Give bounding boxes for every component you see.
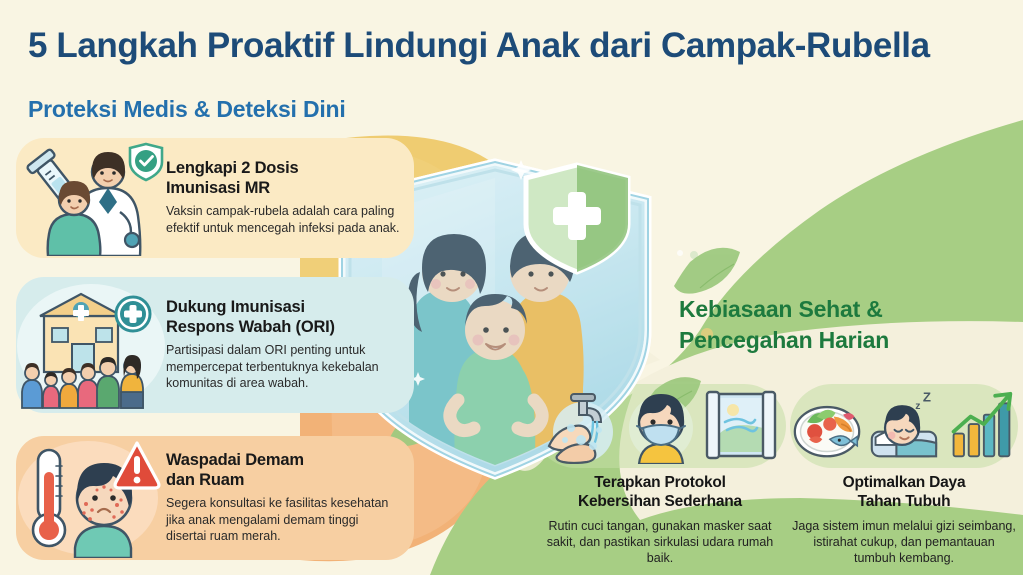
hygiene-card-heading-line2: Kebersihan Sederhana (578, 493, 742, 510)
hygiene-card-heading-line1: Terapkan Protokol (594, 474, 726, 491)
immunity-card-heading: Optimalkan Daya Tahan Tubuh (792, 474, 1016, 512)
fever-card-text: Waspadai Demam dan Ruam Segera konsultas… (166, 451, 414, 545)
fever-card-body: Segera konsultasi ke fasilitas kesehatan… (166, 495, 400, 545)
vaccine-card-heading: Lengkapi 2 Dosis Imunisasi MR (166, 159, 400, 198)
card-optimalkan-daya-tahan-tubuh[interactable]: z Z Optimalkan Daya Tahan Tubuh Jaga sis… (792, 388, 1016, 567)
card-lengkapi-2-dosis-imunisasi-mr[interactable]: Lengkapi 2 Dosis Imunisasi MR Vaksin cam… (16, 138, 414, 258)
hygiene-card-heading: Terapkan Protokol Kebersihan Sederhana (536, 474, 784, 512)
vaccine-card-body: Vaksin campak-rubela adalah cara paling … (166, 203, 400, 236)
immunity-card-icons: z Z (792, 388, 1016, 464)
growth-chart-icon (946, 388, 1016, 464)
immunity-card-heading-line2: Tahan Tubuh (858, 493, 951, 510)
ori-card-body: Partisipasi dalam ORI penting untuk memp… (166, 342, 400, 392)
ori-card-heading-line1: Dukung Imunisasi (166, 298, 305, 316)
ori-card-heading-line2: Respons Wabah (ORI) (166, 318, 335, 336)
ori-card-heading: Dukung Imunisasi Respons Wabah (ORI) (166, 298, 400, 337)
immunity-card-heading-line1: Optimalkan Daya (843, 474, 966, 491)
child-with-mask-icon (625, 388, 697, 464)
ori-card-text: Dukung Imunisasi Respons Wabah (ORI) Par… (166, 298, 414, 392)
balanced-nutrition-plate-icon (792, 388, 862, 464)
thermometer-icon (33, 450, 65, 546)
svg-text:z: z (915, 401, 920, 412)
ori-card-artwork (16, 277, 166, 413)
fever-card-artwork (16, 436, 166, 560)
section-heading-healthy-habits-line2: Pencegahan Harian (679, 325, 889, 356)
hygiene-card-body: Rutin cuci tangan, gunakan masker saat s… (536, 518, 784, 567)
vaccine-card-text: Lengkapi 2 Dosis Imunisasi MR Vaksin cam… (166, 159, 414, 236)
page-title: 5 Langkah Proaktif Lindungi Anak dari Ca… (28, 26, 930, 66)
svg-text:Z: Z (923, 389, 931, 404)
vaccine-card-artwork (16, 138, 166, 258)
fever-card-heading: Waspadai Demam dan Ruam (166, 451, 400, 490)
medical-cross-badge-icon (116, 297, 150, 331)
section-heading-medical: Proteksi Medis & Deteksi Dini (28, 96, 346, 123)
sleeping-child-icon: z Z (868, 388, 940, 464)
section-heading-healthy-habits-line1: Kebiasaan Sehat & (679, 294, 889, 325)
vaccine-card-heading-line1: Lengkapi 2 Dosis (166, 159, 299, 177)
card-waspadai-demam-dan-ruam[interactable]: Waspadai Demam dan Ruam Segera konsultas… (16, 436, 414, 560)
handwashing-icon (541, 388, 619, 464)
card-dukung-imunisasi-respons-wabah[interactable]: Dukung Imunisasi Respons Wabah (ORI) Par… (16, 277, 414, 413)
shield-check-icon (130, 144, 162, 180)
fever-card-heading-line2: dan Ruam (166, 471, 244, 489)
fever-card-heading-line1: Waspadai Demam (166, 451, 304, 469)
open-window-ventilation-icon (703, 388, 779, 464)
immunity-card-body: Jaga sistem imun melalui gizi seimbang, … (792, 518, 1016, 567)
vaccine-card-heading-line2: Imunisasi MR (166, 179, 270, 197)
card-terapkan-protokol-kebersihan[interactable]: Terapkan Protokol Kebersihan Sederhana R… (536, 388, 784, 567)
hygiene-card-icons (536, 388, 784, 464)
section-heading-healthy-habits: Kebiasaan Sehat & Pencegahan Harian (679, 294, 889, 355)
